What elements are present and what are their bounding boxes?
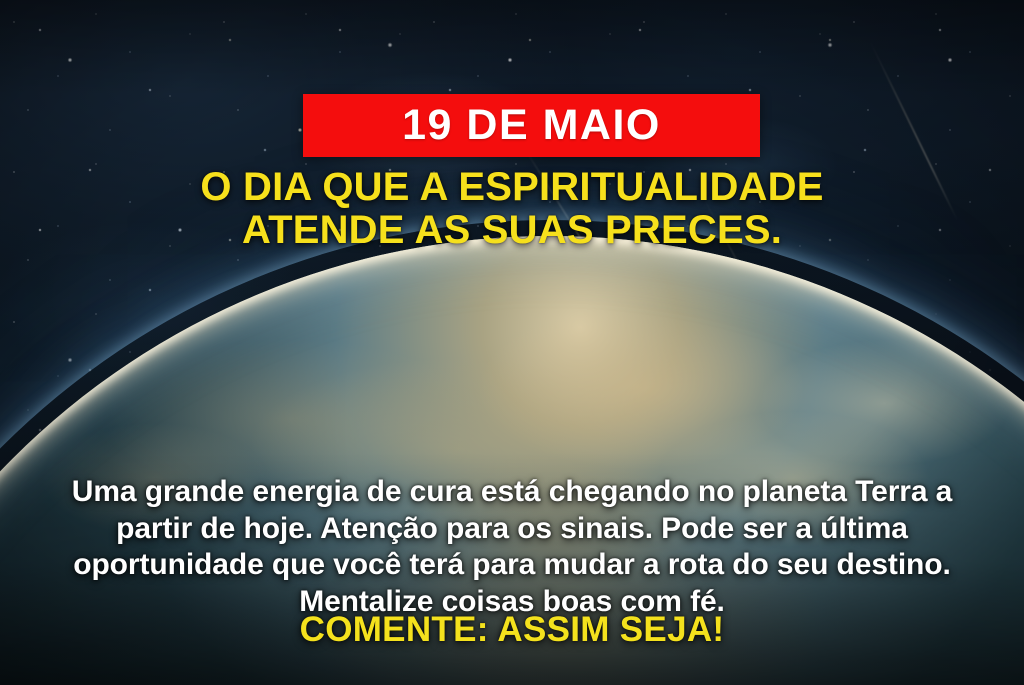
poster-content: 19 DE MAIO O DIA QUE A ESPIRITUALIDADE A… (0, 0, 1024, 685)
poster-canvas: 19 DE MAIO O DIA QUE A ESPIRITUALIDADE A… (0, 0, 1024, 685)
date-banner: 19 DE MAIO (303, 94, 760, 157)
headline-line-1: O DIA QUE A ESPIRITUALIDADE (0, 166, 1024, 209)
call-to-action-text: COMENTE: ASSIM SEJA! (0, 612, 1024, 647)
headline-line-2: ATENDE AS SUAS PRECES. (0, 209, 1024, 252)
date-banner-label: 19 DE MAIO (402, 104, 661, 147)
body-paragraph: Uma grande energia de cura está chegando… (50, 474, 974, 620)
headline: O DIA QUE A ESPIRITUALIDADE ATENDE AS SU… (0, 166, 1024, 252)
